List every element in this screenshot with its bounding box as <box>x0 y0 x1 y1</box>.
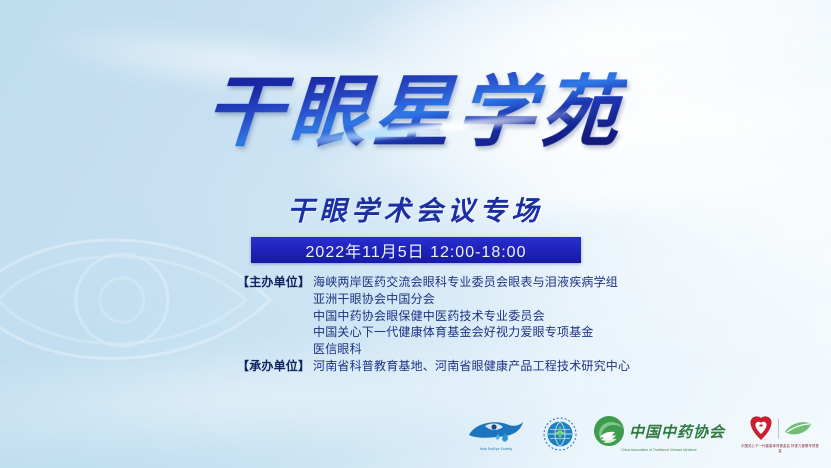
co-host-line: 河南省科普教育基地、河南省眼健康产品工程技术研究中心 <box>313 358 657 375</box>
host-row: 【主办单位】 中国中药协会眼保健中医药技术专业委员会 <box>237 308 657 325</box>
host-row: 【主办单位】 海峡两岸医药交流会眼科专业委员会眼表与泪液疾病学组 <box>237 274 657 291</box>
page-title: 干眼星学苑 <box>203 72 629 153</box>
logo-china-association-tcm: 中国中药协会 China Association of Traditional … <box>593 408 725 460</box>
co-host-label: 【承办单位】 <box>237 358 313 375</box>
heart-shield-icon <box>748 415 774 443</box>
host-line: 中国关心下一代健康体育基金会好视力爱眼专项基金 <box>313 324 657 341</box>
host-row: 【主办单位】 医信眼科 <box>237 341 657 358</box>
host-row: 【主办单位】 亚洲干眼协会中国分会 <box>237 291 657 308</box>
globe-emblem-icon <box>543 417 577 451</box>
host-line: 中国中药协会眼保健中医药技术专业委员会 <box>313 308 657 325</box>
host-line: 医信眼科 <box>313 341 657 358</box>
asia-dryeye-society-icon <box>465 416 527 446</box>
logo-caption: Asia DryEye Society <box>480 447 513 452</box>
co-host-row: 【承办单位】 河南省科普教育基地、河南省眼健康产品工程技术研究中心 <box>237 358 657 375</box>
logo-cross-strait-medical-exchange <box>543 408 577 460</box>
page-subtitle: 干眼学术会议专场 <box>0 189 831 228</box>
conference-poster: 干眼星学苑 干眼学术会议专场 2022年11月5日 12:00-18:00 【主… <box>0 0 831 468</box>
fund-logo-row <box>748 415 813 443</box>
title-container: 干眼星学苑 <box>0 72 831 153</box>
host-line: 亚洲干眼协会中国分会 <box>313 291 657 308</box>
tcm-logo-row: 中国中药协会 <box>593 415 725 447</box>
hand-leaf-icon <box>593 415 625 447</box>
sponsor-logo-strip: Asia DryEye Society <box>465 408 819 460</box>
logo-caption: 中国关心下一代健康体育基金会 好视力爱眼专项基金 <box>741 444 819 454</box>
host-label: 【主办单位】 <box>237 274 313 291</box>
host-line: 海峡两岸医药交流会眼科专业委员会眼表与泪液疾病学组 <box>313 274 657 291</box>
organizer-block: 【主办单位】 海峡两岸医药交流会眼科专业委员会眼表与泪液疾病学组 【主办单位】 … <box>237 274 657 375</box>
logo-caption: China Association of Traditional Chinese… <box>621 448 697 453</box>
leaf-eye-icon <box>783 418 813 440</box>
logo-good-vision-eye-care-fund: 中国关心下一代健康体育基金会 好视力爱眼专项基金 <box>741 408 819 460</box>
date-time-banner: 2022年11月5日 12:00-18:00 <box>251 237 581 263</box>
host-row: 【主办单位】 中国关心下一代健康体育基金会好视力爱眼专项基金 <box>237 324 657 341</box>
tcm-wordmark: 中国中药协会 <box>629 421 725 442</box>
date-time-text: 2022年11月5日 12:00-18:00 <box>306 238 527 262</box>
logo-divider <box>778 419 779 439</box>
logo-asia-dryeye-society: Asia DryEye Society <box>465 408 527 460</box>
